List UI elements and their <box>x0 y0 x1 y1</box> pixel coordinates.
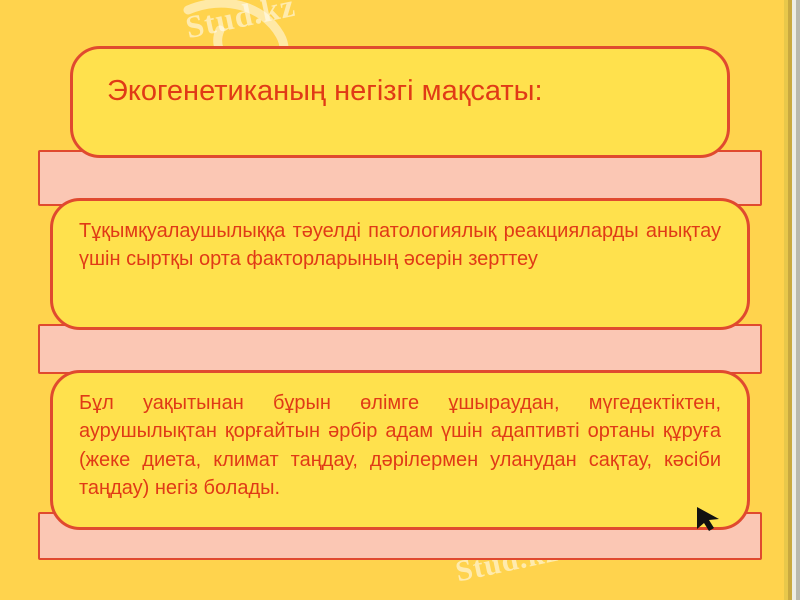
description-text: Бұл уақытынан бұрын өлімге ұшыраудан, мү… <box>53 373 747 519</box>
goal-text: Тұқымқуалаушылыққа тәуелді патологиялық … <box>53 201 747 290</box>
watermark-text: Stud.kz <box>182 0 298 46</box>
presentation-slide: Stud.kz Stud.kz Stud.kz Stud.kz Stud.kz … <box>0 0 800 600</box>
description-banner: Бұл уақытынан бұрын өлімге ұшыраудан, мү… <box>38 370 762 530</box>
title-banner: Экогенетиканың негізгі мақсаты: <box>38 46 762 158</box>
cursor-pointer-icon <box>695 505 725 531</box>
banner-body: Экогенетиканың негізгі мақсаты: <box>70 46 730 158</box>
banner-tail <box>38 324 762 374</box>
goal-banner: Тұқымқуалаушылыққа тәуелді патологиялық … <box>38 198 762 330</box>
page-title: Экогенетиканың негізгі мақсаты: <box>73 49 727 134</box>
scrollbar-track[interactable] <box>796 0 800 600</box>
banner-body: Тұқымқуалаушылыққа тәуелді патологиялық … <box>50 198 750 330</box>
banner-body: Бұл уақытынан бұрын өлімге ұшыраудан, мү… <box>50 370 750 530</box>
